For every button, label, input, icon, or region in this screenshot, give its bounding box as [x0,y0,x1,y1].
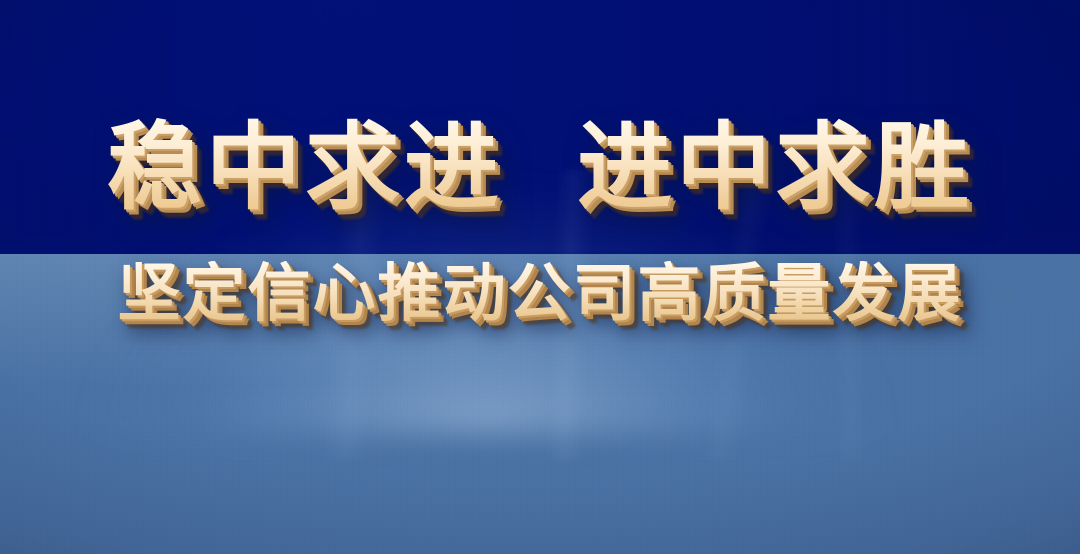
banner-subheadline: 坚定信心推动公司高质量发展 [0,261,1080,327]
banner-headline: 稳中求进 进中求胜 [0,118,1080,219]
headline-block: 稳中求进 进中求胜 坚定信心推动公司高质量发展 [0,118,1080,327]
promo-banner: 稳中求进 进中求胜 坚定信心推动公司高质量发展 [0,0,1080,554]
